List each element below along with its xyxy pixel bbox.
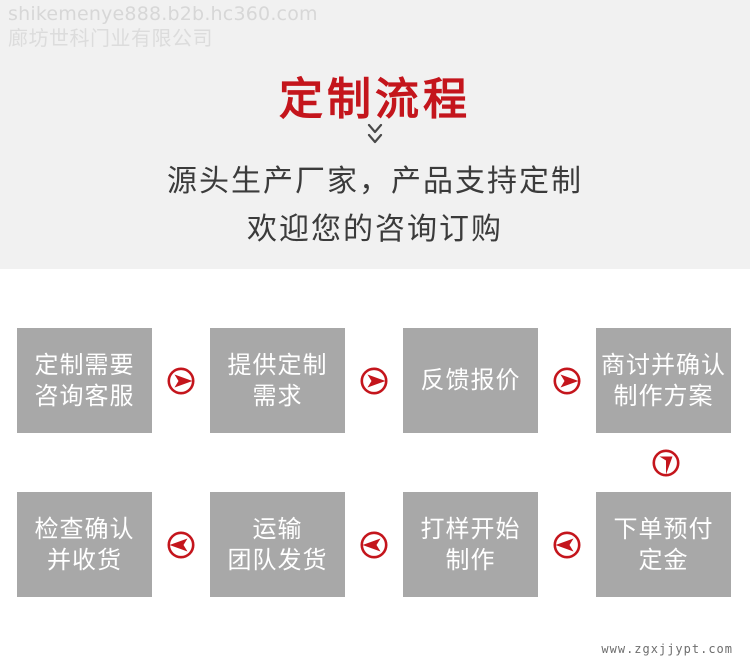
circle-arrow-left-icon <box>538 492 596 597</box>
flow-row-1: 定制需要 咨询客服 提供定制 需求 反馈报价 <box>0 328 750 433</box>
flow-step-8-line-2: 并收货 <box>47 545 122 576</box>
flow-step-8: 检查确认 并收货 <box>17 492 152 597</box>
flow-step-5-line-2: 定金 <box>639 545 689 576</box>
double-chevron-down-icon <box>0 122 750 148</box>
page-subtitle: 源头生产厂家，产品支持定制 欢迎您的咨询订购 <box>0 158 750 254</box>
flow-step-1: 定制需要 咨询客服 <box>17 328 152 433</box>
circle-arrow-left-icon <box>152 492 210 597</box>
flow-step-5-line-1: 下单预付 <box>614 514 714 545</box>
flow-step-3: 反馈报价 <box>403 328 538 433</box>
flow-step-7: 运输 团队发货 <box>210 492 345 597</box>
flow-step-5: 下单预付 定金 <box>596 492 731 597</box>
subtitle-line-1: 源头生产厂家，产品支持定制 <box>0 158 750 206</box>
circle-arrow-left-icon <box>345 492 403 597</box>
flow-step-7-line-2: 团队发货 <box>228 545 328 576</box>
flow-step-1-line-2: 咨询客服 <box>35 381 135 412</box>
circle-arrow-down-icon <box>598 433 733 492</box>
flow-step-2-line-1: 提供定制 <box>228 350 328 381</box>
flow-step-4-line-1: 商讨并确认 <box>601 350 726 381</box>
flow-row-2: 检查确认 并收货 运输 团队发货 打样开始 制作 <box>0 492 750 597</box>
flow-step-2-line-2: 需求 <box>253 381 303 412</box>
circle-arrow-right-icon <box>152 328 210 433</box>
flow-step-4: 商讨并确认 制作方案 <box>596 328 731 433</box>
row-left-spacer <box>0 544 17 545</box>
page-title: 定制流程 <box>0 63 750 127</box>
row-left-spacer <box>0 380 17 381</box>
flow-step-8-line-1: 检查确认 <box>35 514 135 545</box>
watermark-company-name: 廊坊世科门业有限公司 <box>8 26 318 52</box>
flow-step-6-line-2: 制作 <box>446 545 496 576</box>
circle-arrow-right-icon <box>345 328 403 433</box>
flow-step-4-line-2: 制作方案 <box>614 381 714 412</box>
subtitle-line-2: 欢迎您的咨询订购 <box>0 206 750 254</box>
process-flow-diagram: 定制需要 咨询客服 提供定制 需求 反馈报价 <box>0 269 750 668</box>
flow-step-1-line-1: 定制需要 <box>35 350 135 381</box>
flow-step-6-line-1: 打样开始 <box>421 514 521 545</box>
header-banner: shikemenye888.b2b.hc360.com 廊坊世科门业有限公司 定… <box>0 0 750 269</box>
watermark-site-url: shikemenye888.b2b.hc360.com <box>8 2 318 26</box>
flow-step-6: 打样开始 制作 <box>403 492 538 597</box>
flow-step-7-line-1: 运输 <box>253 514 303 545</box>
flow-step-3-line-1: 反馈报价 <box>421 365 521 396</box>
circle-arrow-right-icon <box>538 328 596 433</box>
bottom-watermark: www.zgxjjypt.com <box>601 642 733 656</box>
flow-step-2: 提供定制 需求 <box>210 328 345 433</box>
top-watermark: shikemenye888.b2b.hc360.com 廊坊世科门业有限公司 <box>8 2 318 52</box>
